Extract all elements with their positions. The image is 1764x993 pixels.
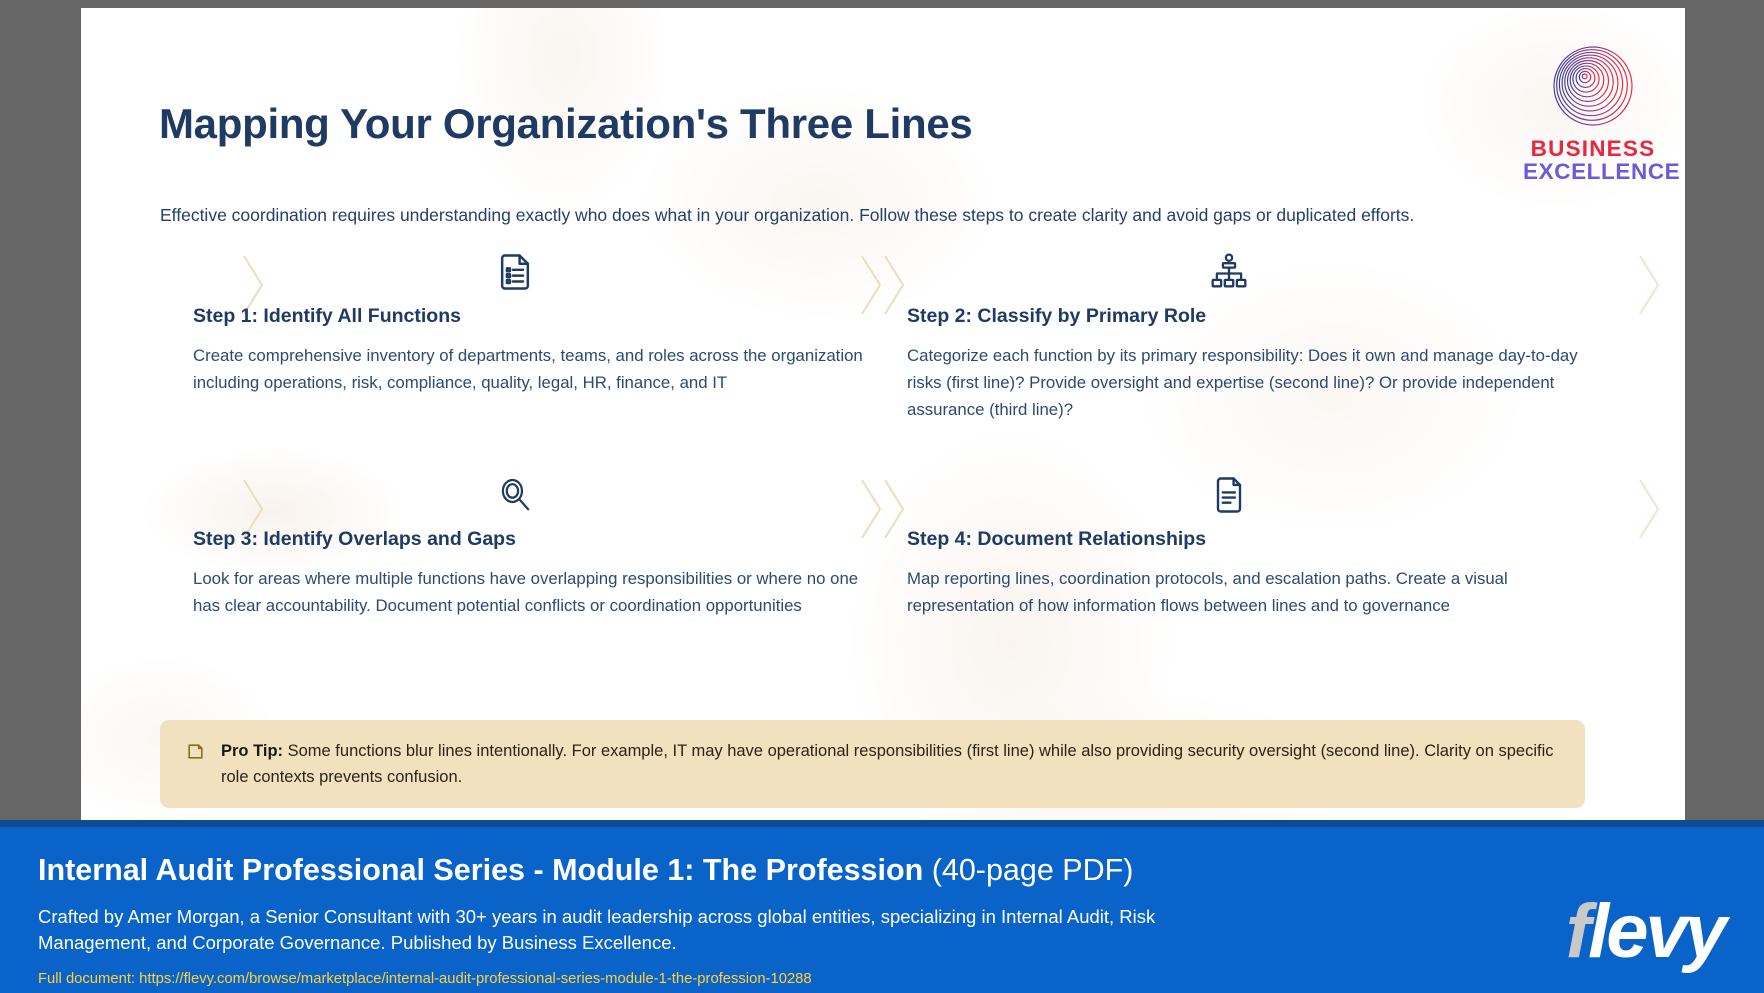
pro-tip-text: Pro Tip: Some functions blur lines inten… (221, 738, 1559, 790)
pro-tip-body: Some functions blur lines intentionally.… (221, 742, 1554, 786)
step-title: Step 1: Identify All Functions (193, 305, 461, 328)
flevy-logo-f: f (1566, 889, 1588, 974)
steps-row-2: Step 3: Identify Overlaps and Gaps Look … (81, 473, 1685, 693)
step-title: Step 2: Classify by Primary Role (907, 305, 1206, 328)
banner-description: Crafted by Amer Morgan, a Senior Consult… (38, 904, 1268, 955)
business-excellence-logo: BUSINESS EXCELLENCE (1523, 44, 1663, 184)
concentric-circles-icon (1523, 44, 1663, 133)
flevy-promo-banner: Internal Audit Professional Series - Mod… (0, 820, 1764, 993)
step-description: Create comprehensive inventory of depart… (193, 342, 879, 396)
org-chart-icon (1207, 250, 1251, 294)
pro-tip-callout: Pro Tip: Some functions blur lines inten… (160, 720, 1585, 808)
steps-grid: Step 1: Identify All Functions Create co… (81, 250, 1685, 690)
flevy-logo: flevy (1566, 894, 1724, 970)
logo-text-excellence: EXCELLENCE (1523, 160, 1663, 183)
step-description: Look for areas where multiple functions … (193, 565, 879, 619)
sticky-note-icon (186, 742, 205, 761)
step-title: Step 3: Identify Overlaps and Gaps (193, 528, 516, 551)
step-description: Categorize each function by its primary … (907, 342, 1579, 424)
banner-document-link[interactable]: Full document: https://flevy.com/browse/… (38, 971, 812, 987)
banner-title: Internal Audit Professional Series - Mod… (38, 853, 1133, 888)
step-card-4: Step 4: Document Relationships Map repor… (889, 473, 1569, 693)
magnifying-glass-icon (493, 473, 537, 517)
logo-text-business: BUSINESS (1523, 137, 1663, 160)
step-card-3: Step 3: Identify Overlaps and Gaps Look … (175, 473, 855, 693)
pro-tip-label: Pro Tip: (221, 742, 283, 760)
document-checklist-icon (493, 250, 537, 294)
page-title: Mapping Your Organization's Three Lines (159, 100, 973, 148)
step-card-1: Step 1: Identify All Functions Create co… (175, 250, 855, 470)
page-subtitle: Effective coordination requires understa… (160, 205, 1414, 226)
banner-title-pages: (40-page PDF) (923, 853, 1133, 887)
step-card-2: Step 2: Classify by Primary Role Categor… (889, 250, 1569, 470)
steps-row-1: Step 1: Identify All Functions Create co… (81, 250, 1685, 470)
banner-title-main: Internal Audit Professional Series - Mod… (38, 853, 923, 887)
document-lines-icon (1207, 473, 1251, 517)
step-title: Step 4: Document Relationships (907, 528, 1206, 551)
step-description: Map reporting lines, coordination protoc… (907, 565, 1579, 619)
flevy-logo-levy: levy (1588, 889, 1724, 974)
slide-canvas: Mapping Your Organization's Three Lines … (81, 8, 1685, 820)
banner-top-strip (0, 820, 1764, 827)
